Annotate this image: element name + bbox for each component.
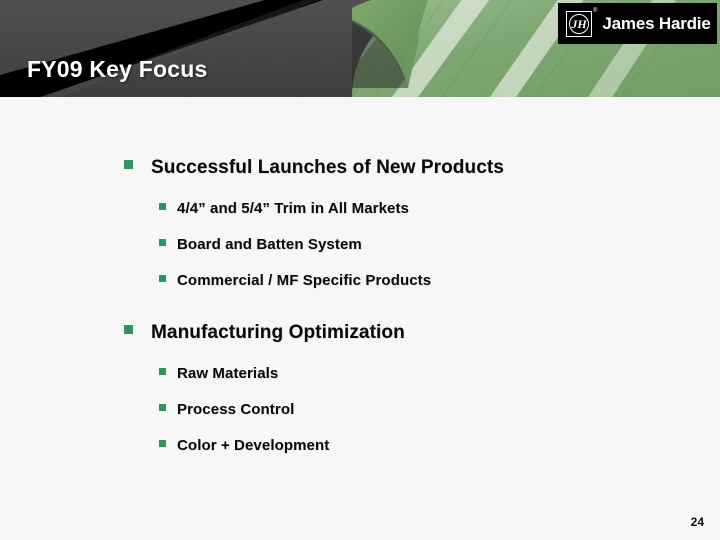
header-banner: FY09 Key Focus JH ® James Hardie bbox=[0, 0, 720, 97]
bullet-square-icon bbox=[159, 203, 166, 210]
list-item-label: 4/4” and 5/4” Trim in All Markets bbox=[177, 200, 409, 217]
registered-trademark-icon: ® bbox=[593, 8, 597, 14]
list-item: 4/4” and 5/4” Trim in All Markets bbox=[159, 200, 409, 217]
bullet-square-icon bbox=[159, 368, 166, 375]
bullet-square-icon bbox=[159, 440, 166, 447]
jh-monogram-icon: JH bbox=[566, 11, 592, 37]
section-heading: Manufacturing Optimization bbox=[124, 322, 405, 344]
list-item: Process Control bbox=[159, 401, 294, 418]
bullet-square-icon bbox=[124, 160, 133, 169]
brand-name: James Hardie bbox=[602, 14, 710, 34]
list-item: Board and Batten System bbox=[159, 236, 362, 253]
section-heading-label: Manufacturing Optimization bbox=[151, 322, 405, 344]
slide: FY09 Key Focus JH ® James Hardie Success… bbox=[0, 0, 720, 540]
slide-body: Successful Launches of New Products 4/4”… bbox=[0, 97, 720, 540]
list-item-label: Color + Development bbox=[177, 437, 329, 454]
brand-logo: JH ® James Hardie bbox=[558, 3, 717, 44]
list-item-label: Raw Materials bbox=[177, 365, 278, 382]
logo-monogram-text: JH bbox=[567, 12, 591, 36]
list-item: Commercial / MF Specific Products bbox=[159, 272, 431, 289]
section-heading: Successful Launches of New Products bbox=[124, 157, 504, 179]
list-item-label: Commercial / MF Specific Products bbox=[177, 272, 431, 289]
section-heading-label: Successful Launches of New Products bbox=[151, 157, 504, 179]
page-title: FY09 Key Focus bbox=[27, 56, 207, 83]
list-item-label: Board and Batten System bbox=[177, 236, 362, 253]
bullet-square-icon bbox=[124, 325, 133, 334]
bullet-square-icon bbox=[159, 404, 166, 411]
page-number: 24 bbox=[691, 515, 704, 529]
list-item-label: Process Control bbox=[177, 401, 294, 418]
list-item: Raw Materials bbox=[159, 365, 278, 382]
bullet-square-icon bbox=[159, 239, 166, 246]
list-item: Color + Development bbox=[159, 437, 329, 454]
bullet-square-icon bbox=[159, 275, 166, 282]
